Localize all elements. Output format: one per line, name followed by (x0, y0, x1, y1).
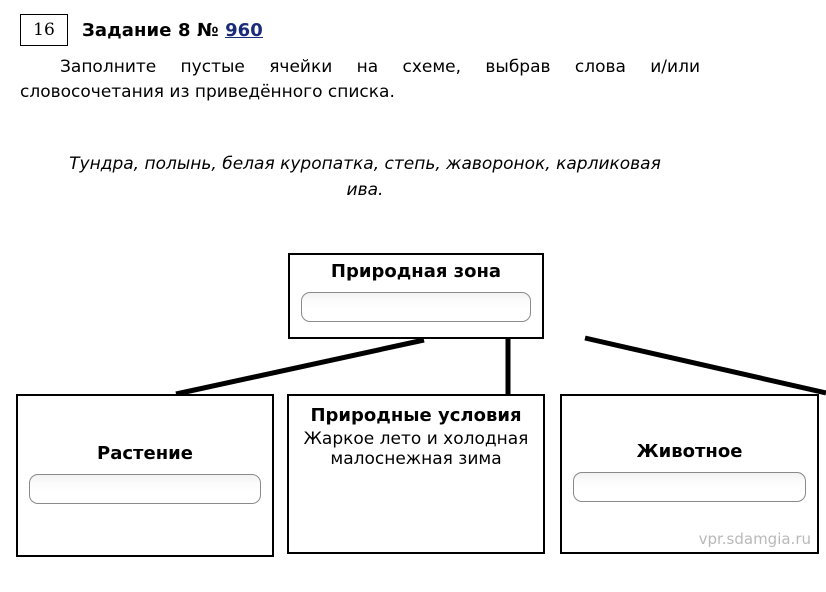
node-natural-conditions-title: Природные условия (289, 406, 543, 427)
connector-left (176, 340, 424, 394)
site-watermark: vpr.sdamgia.ru (699, 530, 811, 548)
answer-input-plant[interactable] (29, 474, 261, 504)
scheme-diagram: Природная зона Растение Природные услови… (0, 0, 826, 592)
connector-right (585, 338, 826, 393)
answer-input-animal[interactable] (573, 472, 806, 502)
answer-input-natural-zone[interactable] (301, 292, 531, 322)
node-plant: Растение (16, 394, 274, 557)
node-natural-zone: Природная зона (288, 253, 544, 339)
node-natural-conditions-body: Жаркое лето и холодная малоснежная зима (289, 429, 543, 470)
node-natural-conditions: Природные условия Жаркое лето и холодная… (287, 394, 545, 554)
node-animal: Животное vpr.sdamgia.ru (560, 394, 819, 554)
node-natural-zone-title: Природная зона (290, 262, 542, 283)
node-plant-title: Растение (18, 444, 272, 465)
node-animal-title: Животное (562, 442, 817, 463)
